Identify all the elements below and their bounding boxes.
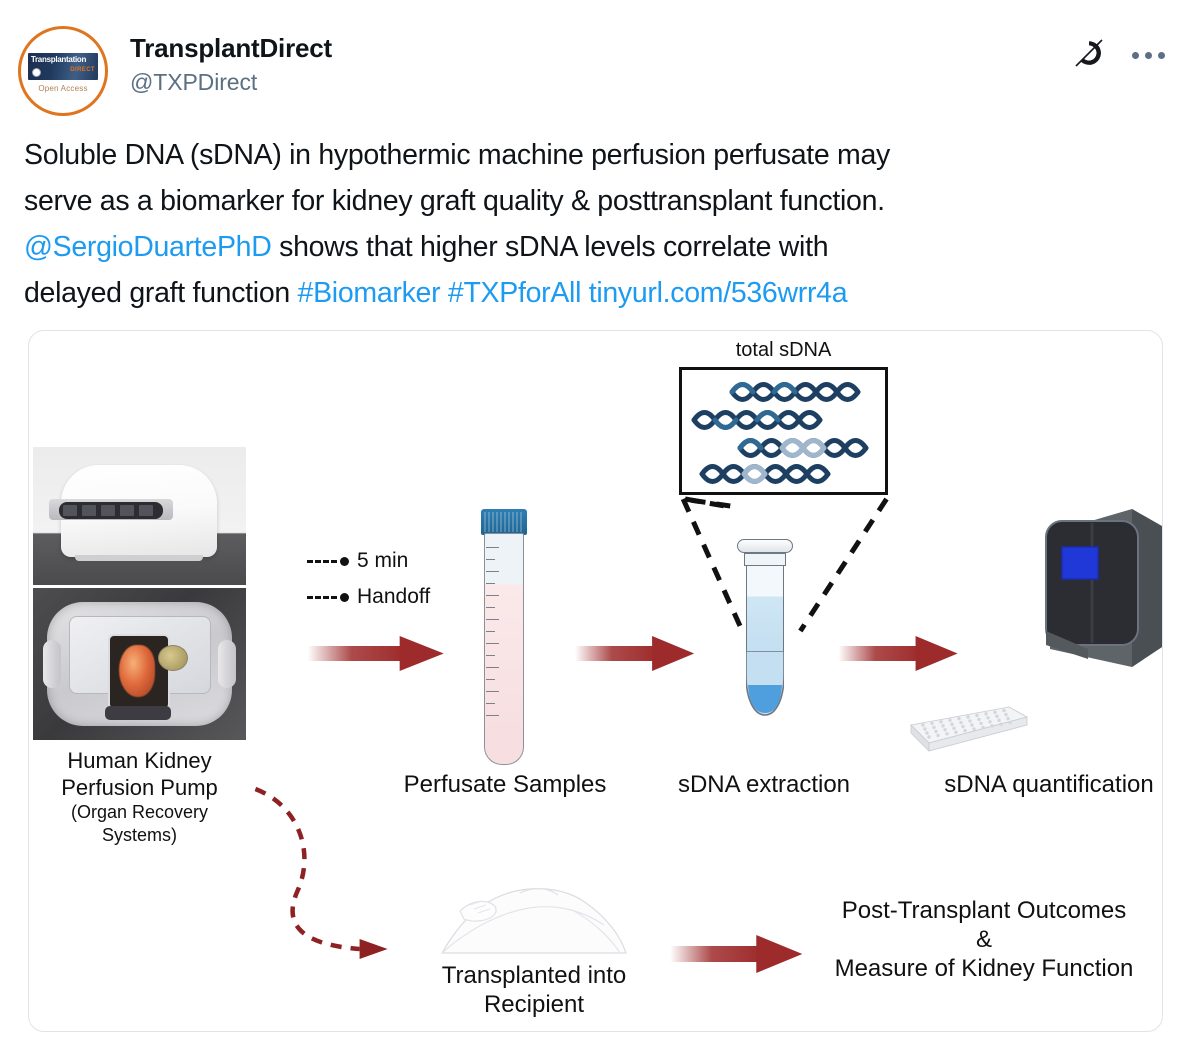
account-name-block: TransplantDirect @TXPDirect bbox=[130, 26, 1072, 97]
sdna-quantification-label: sDNA quantification bbox=[919, 771, 1163, 799]
legend-item-handoff: Handoff bbox=[307, 579, 430, 615]
total-sdna-box bbox=[679, 367, 888, 495]
pump-caption-line-4: Systems) bbox=[29, 824, 250, 847]
timing-legend: 5 min Handoff bbox=[307, 543, 430, 615]
tweet-line-1: Soluble DNA (sDNA) in hypothermic machin… bbox=[24, 139, 890, 171]
tinyurl-link[interactable]: tinyurl.com/536wrr4a bbox=[589, 277, 848, 309]
eppendorf-body bbox=[746, 566, 784, 652]
hashtag-txpforall[interactable]: #TXPforAll bbox=[448, 277, 581, 309]
legend-dash-icon-1 bbox=[307, 560, 337, 563]
tweet-body-text: Soluble DNA (sDNA) in hypothermic machin… bbox=[0, 116, 1187, 316]
eppendorf-lid bbox=[737, 539, 793, 553]
transplanted-recipient-label: Transplanted into Recipient bbox=[399, 961, 669, 1019]
pump-caption-line-2: Perfusion Pump bbox=[29, 774, 250, 801]
post-transplant-outcomes-label: Post-Transplant Outcomes & Measure of Ki… bbox=[804, 896, 1163, 983]
legend-bullet-icon-2 bbox=[340, 593, 349, 602]
dna-strands-svg bbox=[682, 370, 885, 492]
sdna-extraction-label: sDNA extraction bbox=[644, 771, 884, 799]
pump-caption-line-1: Human Kidney bbox=[29, 747, 250, 774]
outcomes-line-3: Measure of Kidney Function bbox=[804, 954, 1163, 983]
arrow-pump-to-tube bbox=[307, 636, 443, 671]
avatar[interactable]: Transplantation DIRECT Open Access bbox=[18, 26, 108, 116]
tweet-line-4: delayed graft function bbox=[24, 277, 298, 309]
conical-tube-graphic bbox=[477, 509, 531, 759]
perfusion-pump-open-photo bbox=[33, 588, 246, 740]
tweet-card: Transplantation DIRECT Open Access Trans… bbox=[0, 0, 1187, 1062]
legend-bullet-icon-1 bbox=[340, 557, 349, 566]
pump-open-control-panel bbox=[105, 706, 171, 720]
avatar-emblem-dot bbox=[32, 68, 41, 77]
space-2 bbox=[581, 277, 589, 309]
total-sdna-title: total sDNA bbox=[679, 339, 888, 362]
tweet-line-2: serve as a biomarker for kidney graft qu… bbox=[24, 185, 885, 217]
avatar-banner: Transplantation DIRECT bbox=[28, 53, 98, 80]
perfusion-pump-closed-photo bbox=[33, 447, 246, 585]
qpcr-instrument-graphic bbox=[1032, 499, 1163, 679]
account-handle[interactable]: @TXPDirect bbox=[130, 67, 1072, 97]
pump-handle-right bbox=[218, 640, 236, 688]
arrow-tube-to-extraction bbox=[575, 636, 694, 671]
dashed-arrow-pump-to-recipient bbox=[255, 789, 387, 959]
perfusate-samples-label: Perfusate Samples bbox=[385, 771, 625, 799]
header-actions bbox=[1072, 26, 1165, 75]
arrow-extraction-to-quantification bbox=[838, 636, 957, 671]
more-dot-3 bbox=[1158, 52, 1165, 59]
eppendorf-neck bbox=[744, 553, 786, 566]
legend-label-5min: 5 min bbox=[357, 543, 408, 579]
display-name[interactable]: TransplantDirect bbox=[130, 32, 1072, 64]
space-1 bbox=[440, 277, 448, 309]
avatar-brand-direct: DIRECT bbox=[70, 67, 95, 73]
recipient-label-line-1: Transplanted into bbox=[399, 961, 669, 990]
hashtag-biomarker[interactable]: #Biomarker bbox=[298, 277, 441, 309]
eppendorf-cone bbox=[746, 651, 784, 717]
avatar-open-access-text: Open Access bbox=[38, 84, 87, 93]
outcomes-line-2: & bbox=[804, 925, 1163, 954]
legend-item-5min: 5 min bbox=[307, 543, 430, 579]
more-options-icon[interactable] bbox=[1132, 52, 1165, 59]
pump-handle-left bbox=[43, 640, 61, 688]
tweet-header: Transplantation DIRECT Open Access Trans… bbox=[0, 0, 1187, 116]
pump-circulator bbox=[158, 645, 188, 671]
tweet-media-figure[interactable]: total sDNA bbox=[28, 330, 1163, 1032]
pump-open-shell bbox=[47, 602, 232, 726]
arrow-recipient-to-outcomes bbox=[670, 935, 802, 973]
outcomes-line-1: Post-Transplant Outcomes bbox=[804, 896, 1163, 925]
avatar-logo: Transplantation DIRECT Open Access bbox=[21, 29, 105, 113]
pump-caption: Human Kidney Perfusion Pump (Organ Recov… bbox=[29, 747, 250, 847]
microcentrifuge-tube-graphic bbox=[735, 539, 795, 735]
legend-dash-icon-2 bbox=[307, 596, 337, 599]
pump-base bbox=[75, 555, 203, 561]
pump-cassette-tray bbox=[69, 616, 211, 694]
more-dot-1 bbox=[1132, 52, 1139, 59]
legend-label-handoff: Handoff bbox=[357, 579, 430, 615]
grok-icon[interactable] bbox=[1072, 36, 1106, 75]
kidney-window bbox=[108, 634, 170, 710]
pump-control-panel bbox=[59, 502, 163, 519]
tube-cap bbox=[481, 509, 527, 535]
more-dot-2 bbox=[1145, 52, 1152, 59]
mention-link[interactable]: @SergioDuartePhD bbox=[24, 231, 272, 263]
tube-tip bbox=[484, 727, 524, 765]
tweet-line-3: shows that higher sDNA levels correlate … bbox=[272, 231, 829, 263]
pcr-plate-graphic bbox=[905, 699, 1029, 753]
pump-caption-line-3: (Organ Recovery bbox=[29, 801, 250, 824]
recipient-label-line-2: Recipient bbox=[399, 990, 669, 1019]
avatar-brand-word: Transplantation bbox=[28, 53, 86, 64]
kidney-organ bbox=[119, 645, 155, 697]
